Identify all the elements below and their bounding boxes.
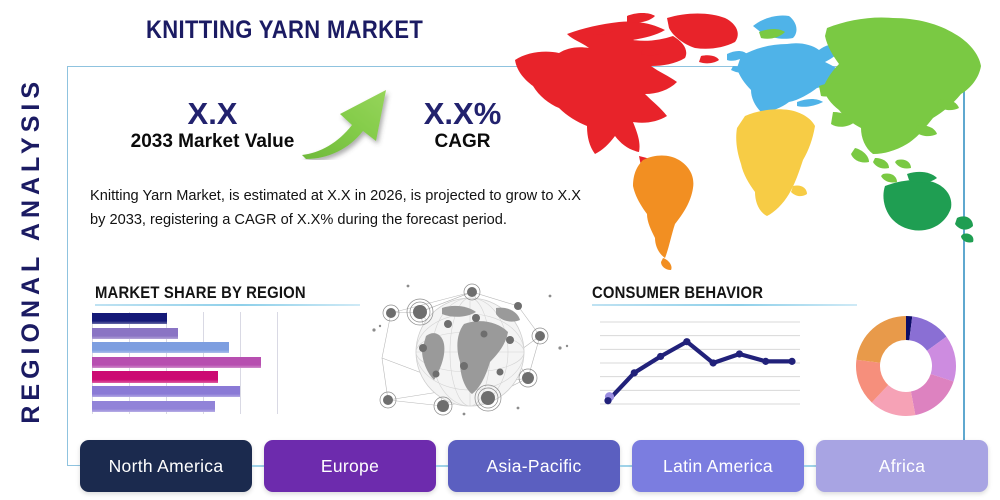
line-chart-marker: [604, 397, 611, 404]
bar-chart-bar: [92, 328, 178, 339]
region-pill-label: North America: [109, 456, 224, 477]
bar-chart-bar: [92, 386, 240, 397]
region-pill-connector: [804, 465, 816, 467]
line-chart-marker: [631, 369, 638, 376]
region-pill-latin-america[interactable]: Latin America: [632, 440, 804, 492]
map-region-north-america: [515, 13, 738, 171]
market-value-stat: X.X 2033 Market Value: [100, 98, 325, 152]
bar-chart-bar: [92, 371, 218, 382]
region-pill-europe[interactable]: Europe: [264, 440, 436, 492]
region-pill-bar: North AmericaEuropeAsia-PacificLatin Ame…: [80, 440, 990, 492]
page-title: KNITTING YARN MARKET: [146, 16, 423, 45]
bar-chart-row: [92, 328, 277, 339]
segment-donut-chart: [852, 312, 960, 420]
region-pill-label: Asia-Pacific: [486, 456, 581, 477]
map-region-oceania: [883, 172, 973, 243]
region-pill-connector: [436, 465, 448, 467]
bar-chart-row: [92, 313, 277, 324]
network-globe-icon: [368, 278, 573, 420]
line-chart-marker: [788, 358, 795, 365]
bar-chart-row: [92, 342, 277, 353]
region-pill-label: Europe: [321, 456, 379, 477]
region-pill-africa[interactable]: Africa: [816, 440, 988, 492]
side-label-text: REGIONAL ANALYSIS: [17, 77, 46, 424]
bar-chart-row: [92, 357, 277, 368]
donut-segment: [856, 316, 906, 363]
bar-chart-bar: [92, 313, 167, 324]
map-region-south-america: [633, 156, 693, 271]
region-pill-label: Latin America: [663, 456, 773, 477]
region-pill-asia-pacific[interactable]: Asia-Pacific: [448, 440, 620, 492]
donut-segment: [911, 374, 954, 415]
market-share-rule: [95, 304, 360, 306]
market-value-number: X.X: [100, 98, 325, 131]
world-map-icon: [497, 8, 997, 273]
bar-chart-row: [92, 386, 277, 397]
map-region-africa: [736, 109, 815, 216]
line-chart-marker: [657, 353, 664, 360]
bar-chart-bar: [92, 357, 261, 368]
consumer-behavior-rule: [592, 304, 857, 306]
line-chart-marker: [762, 358, 769, 365]
region-pill-connector: [252, 465, 264, 467]
consumer-behavior-line-chart: [600, 312, 800, 412]
region-pill-connector: [620, 465, 632, 467]
bar-chart-row: [92, 401, 277, 412]
market-share-bar-chart: [92, 312, 277, 414]
line-chart-marker: [710, 359, 717, 366]
regional-analysis-side-label: REGIONAL ANALYSIS: [0, 0, 62, 500]
region-pill-label: Africa: [879, 456, 926, 477]
consumer-behavior-heading: CONSUMER BEHAVIOR: [592, 284, 763, 303]
line-chart-marker: [683, 338, 690, 345]
line-chart-marker: [736, 350, 743, 357]
bar-chart-bar: [92, 342, 229, 353]
region-pill-north-america[interactable]: North America: [80, 440, 252, 492]
market-value-label: 2033 Market Value: [100, 131, 325, 153]
market-share-heading: MARKET SHARE BY REGION: [95, 284, 306, 303]
growth-arrow-icon: [300, 85, 398, 160]
bar-chart-bar: [92, 401, 215, 412]
bar-chart-gridline: [277, 312, 278, 414]
bar-chart-row: [92, 371, 277, 382]
